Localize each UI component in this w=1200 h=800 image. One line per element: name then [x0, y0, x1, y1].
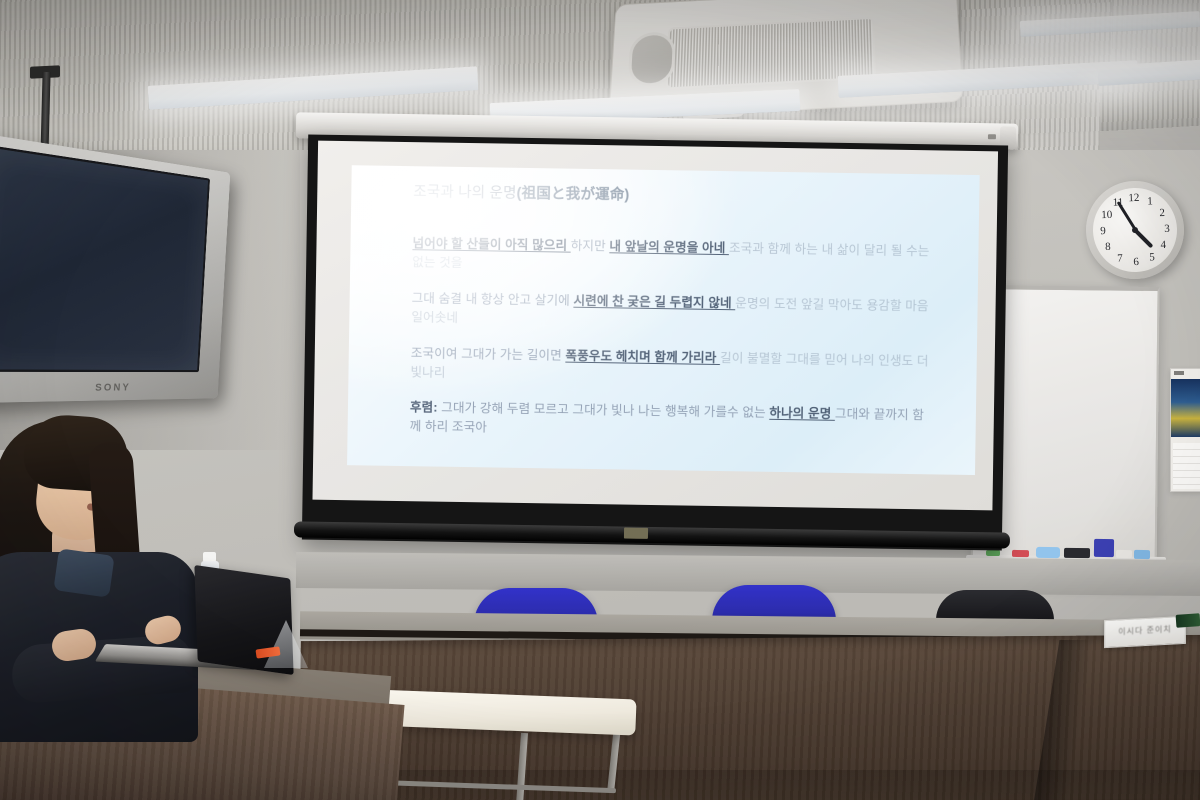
- clock-numeral: 5: [1149, 251, 1155, 263]
- wall-mounted-tv: SONY: [0, 132, 230, 403]
- slide-text-segment: 내 앞날의 운명을 아네: [609, 239, 729, 255]
- slide-verse-3: 조국이여 그대가 가는 길이면 폭풍우도 헤치며 함께 가리라 길이 불멸할 그…: [410, 344, 933, 390]
- slide-title: 조국과 나의 운명(祖国と我が運命): [413, 180, 630, 204]
- clock-numeral: 1: [1147, 196, 1153, 208]
- slide-verse-2: 그대 숨결 내 항상 안고 살기에 시련에 찬 궂은 길 두렵지 않네 운명의 …: [411, 289, 934, 335]
- slide-title-japanese: (祖国と我が運命): [516, 186, 629, 204]
- marker-green: [986, 550, 1000, 556]
- marker-white: [1116, 550, 1132, 558]
- slide-text-segment: 시련에 찬 궂은 길 두렵지 않네: [573, 294, 735, 311]
- marker-red: [1012, 550, 1029, 557]
- slide-text-segment: 폭풍우도 헤치며 함께 가리라: [565, 349, 720, 365]
- desk-object-green: [1176, 613, 1200, 628]
- slide-text-segment: 넘어야 할 산들이 아직 많으리: [412, 236, 570, 252]
- screen-housing-endcap: [1000, 126, 1016, 146]
- slide-text-segment: 하지만: [571, 239, 610, 254]
- clock-numeral: 6: [1133, 256, 1139, 268]
- clock-numeral: 8: [1105, 241, 1111, 253]
- tv-brand-label: SONY: [95, 382, 131, 393]
- calendar-date-grid: [1173, 443, 1200, 489]
- ceiling-panel: [1112, 0, 1200, 69]
- slide-text-segment: 그대 숨결 내 항상 안고 살기에: [412, 291, 574, 308]
- calendar-pin: [1174, 371, 1184, 375]
- clock-numeral: 3: [1164, 223, 1170, 235]
- screen-bar-badge: [624, 528, 648, 539]
- clock-numeral: 9: [1100, 225, 1106, 237]
- name-tent-card: 이시다 준이치: [1104, 616, 1186, 648]
- eraser-blue: [1036, 547, 1060, 558]
- eraser-navy: [1094, 539, 1114, 557]
- eraser-black: [1064, 548, 1090, 558]
- slide-refrain: 후렴: 그대가 강해 두렴 모르고 그대가 빛나 나는 행복해 가를수 없는 하…: [409, 398, 932, 444]
- calendar-photo: [1171, 379, 1200, 437]
- screen-housing-label: [988, 134, 996, 139]
- name-card-label: 이시다 준이치: [1105, 623, 1185, 638]
- projection-screen: 조국과 나의 운명(祖国と我が運命) 넘어야 할 산들이 아직 많으리 하지만 …: [302, 135, 1008, 551]
- clock-numeral: 2: [1159, 207, 1165, 219]
- wall-calendar: [1170, 368, 1200, 492]
- presentation-slide: 조국과 나의 운명(祖国と我が運命) 넘어야 할 산들이 아직 많으리 하지만 …: [347, 165, 980, 475]
- slide-text-segment: 조국이여 그대가 가는 길이면: [411, 346, 566, 362]
- tv-screen: [0, 144, 210, 372]
- collar: [53, 548, 114, 597]
- slide-title-korean: 조국과 나의 운명: [413, 184, 516, 202]
- slide-verse-1: 넘어야 할 산들이 아직 많으리 하지만 내 앞날의 운명을 아네 조국과 함께…: [412, 234, 935, 280]
- clock-numeral: 4: [1160, 239, 1166, 251]
- slide-text-segment: 그대가 강해 두렴 모르고 그대가 빛나 나는 행복해 가를수 없는: [441, 401, 769, 420]
- marker-lightblue: [1134, 550, 1150, 559]
- clock-numeral: 10: [1101, 209, 1112, 221]
- clock-face: 121234567891011: [1092, 187, 1179, 274]
- slide-text-segment: 하나의 운명: [769, 406, 835, 421]
- clock-numeral: 12: [1128, 192, 1139, 204]
- clock-numeral: 7: [1117, 252, 1123, 264]
- slide-text-segment: 후렴:: [410, 400, 441, 414]
- classroom-photo-scene: SONY 121234567891011 조국과 나의 운명(祖国と我が運命: [0, 0, 1200, 800]
- projection-screen-surface: 조국과 나의 운명(祖国と我が運命) 넘어야 할 산들이 아직 많으리 하지만 …: [312, 141, 998, 511]
